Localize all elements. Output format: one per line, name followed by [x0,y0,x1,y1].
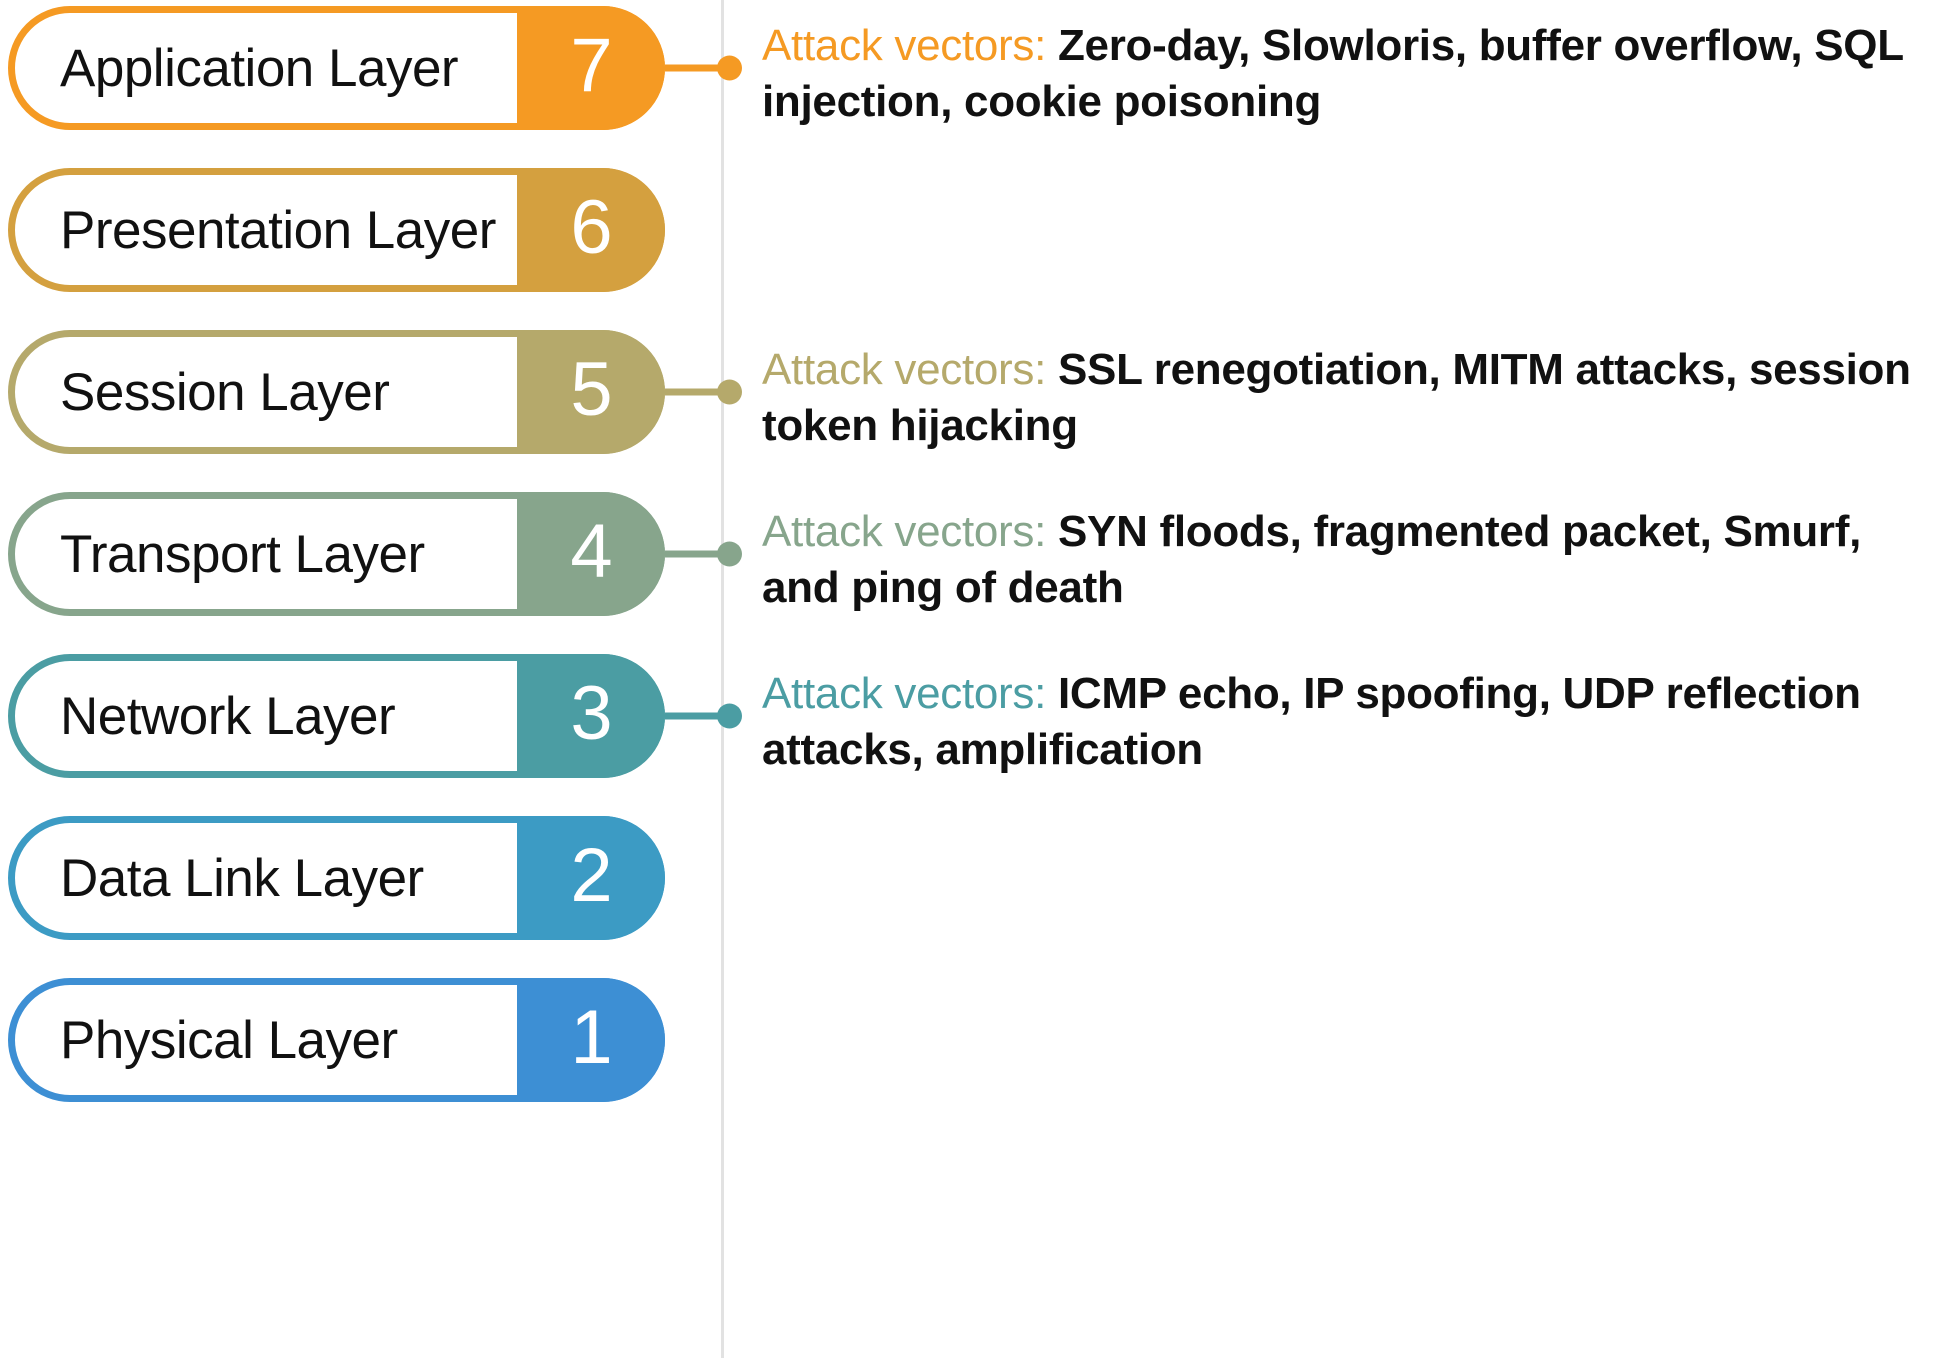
attack-vectors-label: Attack vectors: [762,507,1046,556]
vertical-divider [721,0,724,1358]
osi-diagram: Application Layer7Presentation Layer6Ses… [0,0,1939,1358]
layer-row-application-layer[interactable]: Application Layer7 [8,6,665,130]
layer-number: 7 [570,28,611,104]
layer-row-transport-layer[interactable]: Transport Layer4 [8,492,665,616]
layer-number-badge: 5 [517,330,665,454]
layer-number-badge: 4 [517,492,665,616]
layer-number: 2 [570,838,611,914]
layer-name-label: Transport Layer [60,492,425,616]
layer-number: 1 [570,1000,611,1076]
layer-row-physical-layer[interactable]: Physical Layer1 [8,978,665,1102]
layer-number-badge: 6 [517,168,665,292]
connector-stem [665,65,727,72]
layer-name-label: Application Layer [60,6,458,130]
layer-number: 4 [570,514,611,590]
connector-stem [665,389,727,396]
layer-row-session-layer[interactable]: Session Layer5 [8,330,665,454]
layer-number: 3 [570,676,611,752]
layer-number: 6 [570,190,611,266]
layer-row-presentation-layer[interactable]: Presentation Layer6 [8,168,665,292]
layer-name-label: Physical Layer [60,978,398,1102]
layer-number-badge: 7 [517,6,665,130]
layer-number: 5 [570,352,611,428]
connector-line [665,330,741,454]
attack-vectors-label: Attack vectors: [762,669,1046,718]
layer-number-badge: 1 [517,978,665,1102]
layer-number-badge: 2 [517,816,665,940]
layer-name-label: Presentation Layer [60,168,496,292]
attack-vectors-annotation-layer-3: Attack vectors: ICMP echo, IP spoofing, … [762,666,1937,779]
connector-line [665,492,741,616]
layer-name-label: Session Layer [60,330,389,454]
layer-row-data-link-layer[interactable]: Data Link Layer2 [8,816,665,940]
attack-vectors-label: Attack vectors: [762,21,1046,70]
attack-vectors-label: Attack vectors: [762,345,1046,394]
layer-name-label: Network Layer [60,654,395,778]
connector-stem [665,551,727,558]
attack-vectors-annotation-layer-4: Attack vectors: SYN floods, fragmented p… [762,504,1937,617]
attack-vectors-annotation-layer-7: Attack vectors: Zero-day, Slowloris, buf… [762,18,1937,131]
connector-line [665,6,741,130]
connector-line [665,654,741,778]
layer-name-label: Data Link Layer [60,816,424,940]
layer-row-network-layer[interactable]: Network Layer3 [8,654,665,778]
attack-vectors-annotation-layer-5: Attack vectors: SSL renegotiation, MITM … [762,342,1937,455]
layer-number-badge: 3 [517,654,665,778]
connector-stem [665,713,727,720]
